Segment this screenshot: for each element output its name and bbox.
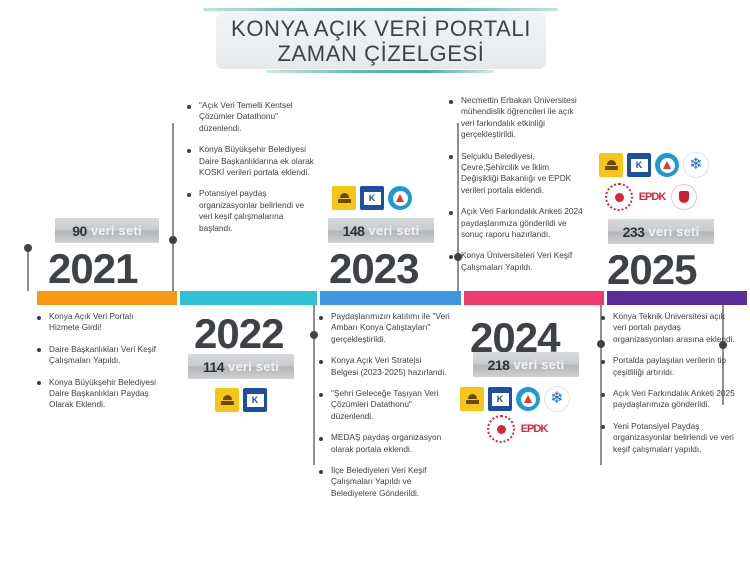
medas-logo-icon: [516, 387, 540, 411]
badge-count-2021: 90: [72, 223, 87, 239]
bullet-list-2025: Konya Teknik Üniversitesi açık veri port…: [600, 311, 735, 465]
badge-2025: 233 veri seti: [608, 219, 714, 244]
list-item: Konya Teknik Üniversitesi açık veri port…: [600, 311, 735, 345]
logo-row-2025: K ❄: [599, 152, 709, 178]
list-item: Yeni Potansiyel Paydaş organizasyonlar b…: [600, 421, 735, 455]
timeline-infographic: KONYA AÇIK VERİ PORTALI ZAMAN ÇİZELGESİ …: [0, 0, 750, 563]
axis-segment-2023: [320, 291, 461, 305]
badge-label-2025: veri seti: [648, 224, 699, 239]
bullet-list-2022: "Açık Veri Temelli Kentsel Çözümler Data…: [186, 100, 314, 244]
year-label-2022: 2022: [194, 313, 283, 355]
year-label-2021: 2021: [48, 248, 137, 290]
list-item: Selçuklu Belediyesi, Çevre,Şehircilik ve…: [448, 151, 588, 197]
badge-label-2022: veri seti: [228, 359, 279, 374]
badge-2021: 90 veri seti: [55, 218, 159, 243]
badge-count-2022: 114: [203, 359, 224, 375]
universite-logo-icon: [671, 184, 697, 210]
axis-segment-2021: [37, 291, 177, 305]
divider-line-2: [313, 305, 315, 465]
list-item: Potansiyel paydaş organizasyonlar belirl…: [186, 188, 314, 234]
badge-label-2024: veri seti: [513, 357, 564, 372]
badge-2022: 114 veri seti: [188, 354, 294, 379]
list-item: Konya Büyükşehir Belediyesi Daire Başkan…: [186, 144, 314, 178]
logo-row-2025-second: EPDK: [605, 183, 697, 211]
epdk-logo-icon: EPDK: [519, 420, 549, 438]
page-title: KONYA AÇIK VERİ PORTALI ZAMAN ÇİZELGESİ: [216, 13, 546, 69]
list-item: Konya Açık Veri Portalı Hizmete Girdi!: [36, 311, 166, 334]
logo-row-2023: K: [332, 186, 412, 210]
divider-dot-1: [169, 236, 177, 244]
axis-segment-2022: [180, 291, 317, 305]
connector-dot-2021: [24, 244, 32, 252]
list-item: Açık Veri Farkındalık Anketi 2024 paydaş…: [448, 206, 588, 240]
bullet-list-2021: Konya Açık Veri Portalı Hizmete Girdi! D…: [36, 311, 166, 421]
logo-row-2024: K ❄: [460, 386, 570, 412]
kbb-logo-icon: [215, 388, 239, 412]
badge-2023: 148 veri seti: [328, 218, 434, 243]
selcuklu-logo-icon: ❄: [544, 386, 570, 412]
bakanlik-logo-icon: [605, 183, 633, 211]
list-item: Konya Üniversiteleri Veri Keşif Çalışmal…: [448, 250, 588, 273]
timeline-axis: [0, 291, 750, 305]
page-title-line2: ZAMAN ÇİZELGESİ: [277, 41, 484, 66]
list-item: MEDAŞ paydaş organizasyon olarak portala…: [318, 432, 450, 455]
list-item: Konya Açık Veri Stratejsi Belgesi (2023-…: [318, 355, 450, 378]
year-label-2023: 2023: [329, 248, 418, 290]
header-top-rule: [203, 8, 558, 11]
badge-count-2023: 148: [343, 223, 365, 239]
axis-segment-2024: [464, 291, 604, 305]
epdk-logo-icon: EPDK: [637, 188, 667, 206]
list-item: "Şehri Geleceğe Taşıyan Veri Çözümleri D…: [318, 388, 450, 422]
badge-2024: 218 veri seti: [473, 352, 579, 377]
kbb-logo-icon: [599, 153, 623, 177]
list-item: Açık Veri Farkındalık Anketi 2025 paydaş…: [600, 388, 735, 411]
medas-logo-icon: [655, 153, 679, 177]
bakanlik-logo-icon: [487, 415, 515, 443]
logo-row-2022: K: [215, 388, 267, 412]
page-title-line1: KONYA AÇIK VERİ PORTALI: [231, 16, 531, 41]
list-item: Konya Büyükşehir Belediyesi Daire Başkan…: [36, 377, 166, 411]
axis-segment-2025: [607, 291, 747, 305]
connector-line-2021: [27, 248, 29, 291]
divider-dot-2: [310, 331, 318, 339]
header-bottom-rule: [266, 70, 494, 73]
divider-line-1: [172, 123, 174, 291]
koski-logo-icon: K: [243, 388, 267, 412]
koski-logo-icon: K: [627, 153, 651, 177]
koski-logo-icon: K: [360, 186, 384, 210]
kbb-logo-icon: [332, 186, 356, 210]
list-item: Portalda paylaşılan verilerin tip çeşitl…: [600, 355, 735, 378]
bullet-list-2024: Necmettin Erbakan Üniversitesi mühendisl…: [448, 95, 588, 283]
badge-count-2025: 233: [623, 224, 645, 240]
badge-count-2024: 218: [488, 357, 510, 373]
list-item: Necmettin Erbakan Üniversitesi mühendisl…: [448, 95, 588, 141]
koski-logo-icon: K: [488, 387, 512, 411]
year-label-2025: 2025: [607, 249, 696, 291]
badge-label-2023: veri seti: [368, 223, 419, 238]
bullet-list-2023: Paydaşlarımızın katılımı ile "Veri Ambar…: [318, 311, 450, 509]
badge-label-2021: veri seti: [91, 223, 142, 238]
list-item: İlçe Belediyeleri Veri Keşif Çalışmaları…: [318, 465, 450, 499]
list-item: Daire Başkanlıkları Veri Keşif Çalışmala…: [36, 344, 166, 367]
logo-row-2024-second: EPDK: [487, 415, 549, 443]
selcuklu-logo-icon: ❄: [683, 152, 709, 178]
medas-logo-icon: [388, 186, 412, 210]
list-item: "Açık Veri Temelli Kentsel Çözümler Data…: [186, 100, 314, 134]
header: KONYA AÇIK VERİ PORTALI ZAMAN ÇİZELGESİ: [0, 0, 750, 82]
list-item: Paydaşlarımızın katılımı ile "Veri Ambar…: [318, 311, 450, 345]
kbb-logo-icon: [460, 387, 484, 411]
